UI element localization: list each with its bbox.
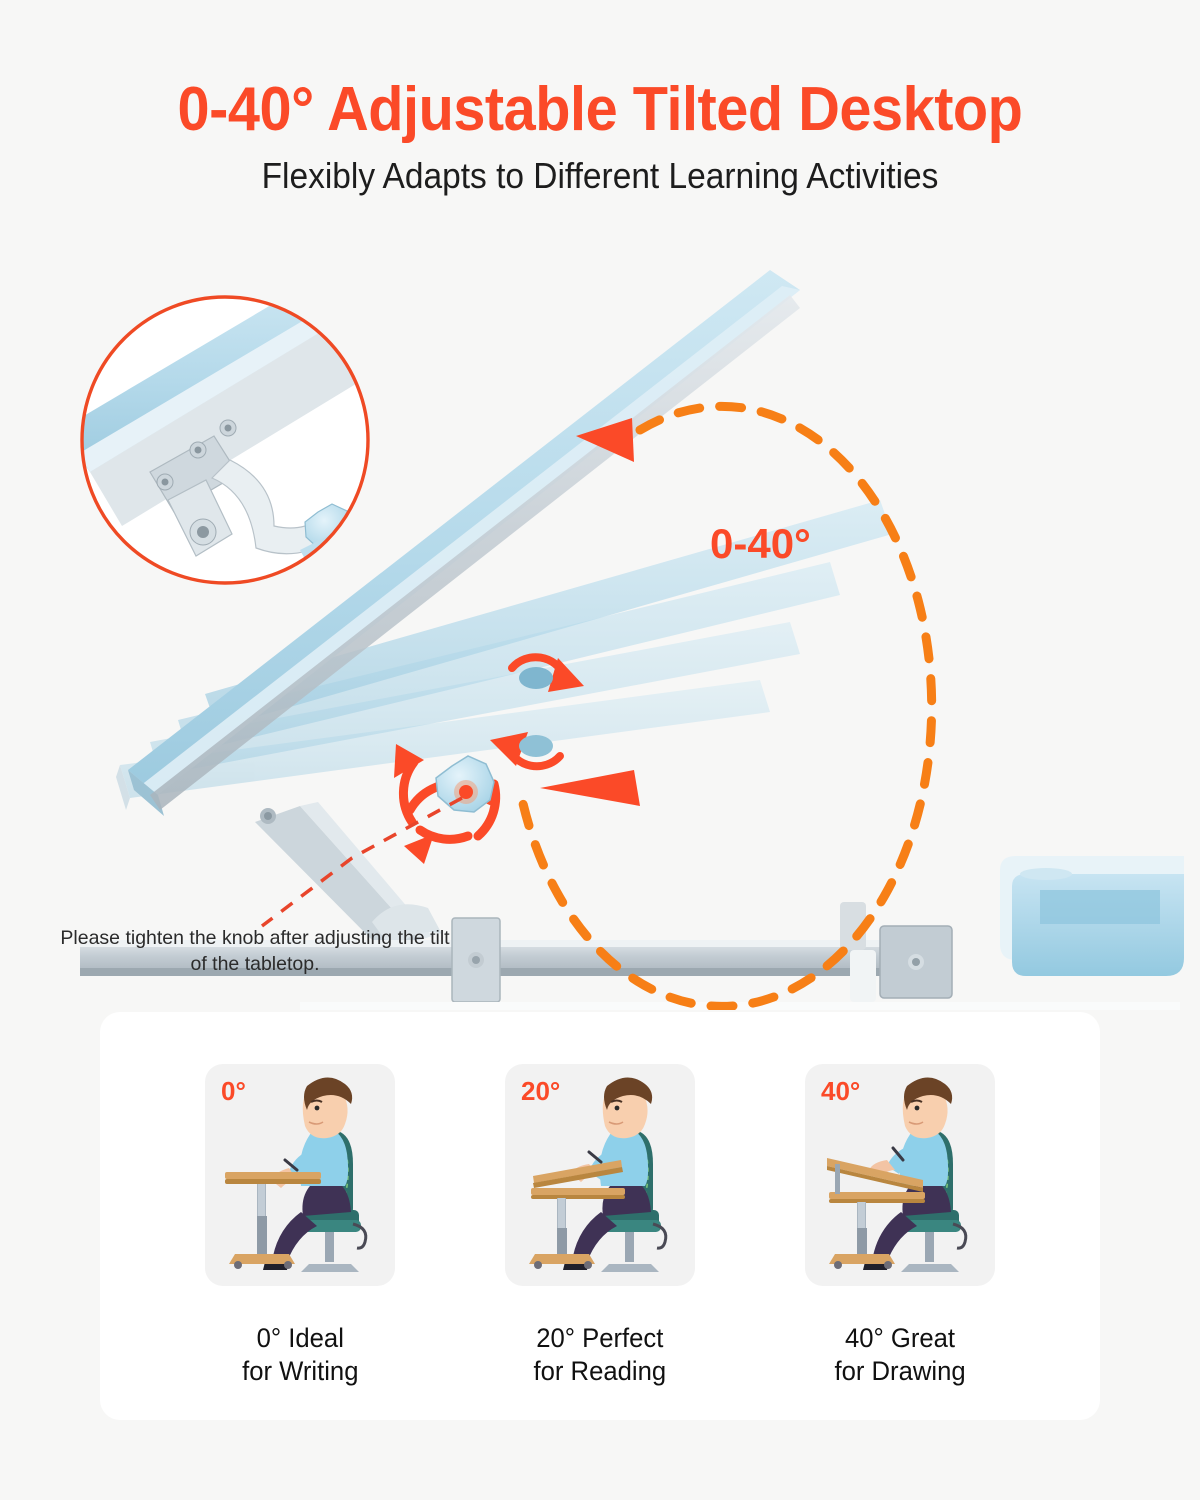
- usage-scenarios-panel: 0°: [100, 1012, 1100, 1420]
- knob-caption-line1: Please tighten the knob after adjusting: [60, 927, 392, 949]
- usage-card-image-0: 0°: [205, 1064, 395, 1286]
- usage-card-caption-1: 20° Perfect for Reading: [534, 1322, 667, 1388]
- storage-caddy: [1000, 856, 1184, 976]
- angle-range-label: 0-40°: [710, 520, 811, 567]
- tilt-lock-knob: [394, 744, 496, 864]
- usage-card-1: 20°: [480, 1064, 720, 1388]
- knob-caption: Please tighten the knob after adjusting …: [55, 925, 455, 978]
- usage-card-caption-2: 40° Great for Drawing: [834, 1322, 965, 1388]
- caption-line2-0: for Writing: [242, 1355, 358, 1388]
- usage-card-caption-0: 0° Ideal for Writing: [242, 1322, 358, 1388]
- usage-card-image-1: 20°: [505, 1064, 695, 1286]
- caption-line1-1: 20° Perfect: [536, 1323, 663, 1353]
- caption-line1-2: 40° Great: [845, 1323, 955, 1353]
- caption-line2-2: for Drawing: [834, 1355, 965, 1388]
- page-title: 0-40° Adjustable Tilted Desktop: [42, 78, 1158, 141]
- caption-line2-1: for Reading: [534, 1355, 667, 1388]
- usage-card-2: 40°: [780, 1064, 1020, 1388]
- header: 0-40° Adjustable Tilted Desktop Flexibly…: [0, 0, 1200, 197]
- usage-card-image-2: 40°: [805, 1064, 995, 1286]
- angle-badge-1: 20°: [521, 1076, 560, 1107]
- angle-badge-0: 0°: [221, 1076, 246, 1107]
- angle-badge-2: 40°: [821, 1076, 860, 1107]
- desktop-slab: [300, 1002, 1180, 1010]
- hinge-detail-callout: [60, 270, 420, 586]
- product-photo-scene: 53 0-40°: [0, 250, 1200, 1010]
- usage-card-list: 0°: [100, 1012, 1100, 1388]
- page-subtitle: Flexibly Adapts to Different Learning Ac…: [42, 155, 1158, 197]
- usage-card-0: 0°: [180, 1064, 420, 1388]
- caption-line1-0: 0° Ideal: [256, 1323, 343, 1353]
